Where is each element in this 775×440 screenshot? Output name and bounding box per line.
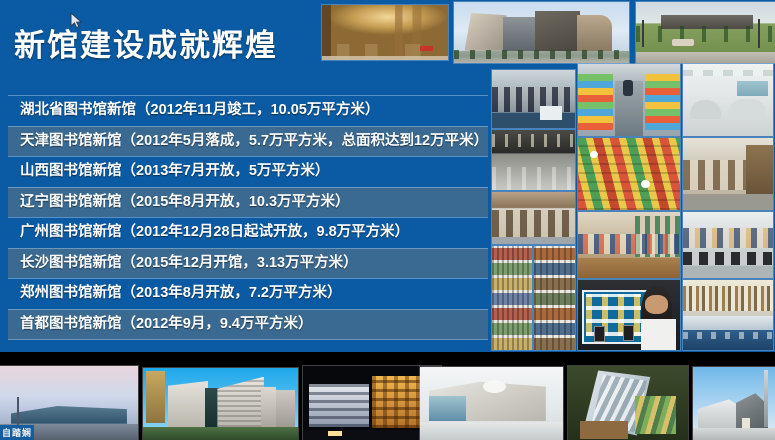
photo-wood-ceiling-stacks <box>492 192 575 244</box>
list-item: 首都图书馆新馆（2012年9月，9.4万平方米） <box>8 309 488 341</box>
photo-angular-modern-hall <box>693 367 775 440</box>
list-item: 山西图书馆新馆（2013年7月开放，5万平方米） <box>8 156 488 187</box>
photo-tall-bookwall-atrium <box>683 280 773 350</box>
top-photo-strip <box>322 2 775 62</box>
list-item: 郑州图书馆新馆（2013年8月开放，7.2万平方米） <box>8 278 488 309</box>
bottom-photo-strip: 自踏娴 <box>0 352 775 440</box>
photo-colorful-reading-hall <box>578 138 680 210</box>
photo-collage-grid <box>490 62 775 352</box>
page-title: 新馆建设成就辉煌 <box>14 24 314 68</box>
photo-bookstacks-rows <box>534 246 575 350</box>
achievement-list: 湖北省图书馆新馆（2012年11月竣工，10.05万平方米） 天津图书馆新馆（2… <box>8 95 488 331</box>
photo-concrete-museum-daylight <box>420 367 563 440</box>
photo-aerial-curved-roof <box>568 366 688 440</box>
photo-library-plaza-lawn <box>636 2 775 63</box>
list-item: 天津图书馆新馆（2012年5月落成，5.7万平方米，总面积达到12万平米） <box>8 126 488 157</box>
list-item: 长沙图书馆新馆（2015年12月开馆，3.13万平方米） <box>8 248 488 279</box>
list-item: 广州图书馆新馆（2012年12月28日起试开放，9.8万平方米） <box>8 217 488 248</box>
photo-magazine-shelf-aisle <box>578 64 680 136</box>
photo-computer-terminals-room <box>683 212 773 278</box>
photo-open-study-lounge <box>683 64 773 136</box>
list-item: 辽宁图书馆新馆（2015年8月开放，10.3万平方米） <box>8 187 488 218</box>
photo-white-stone-tower-block <box>143 368 298 440</box>
photo-modern-library-exterior <box>454 2 629 63</box>
photo-children-reading-tables <box>578 212 680 278</box>
photo-touchscreen-ebook-kiosk <box>578 280 680 350</box>
mouse-pointer-icon <box>70 12 84 30</box>
presentation-slide: 新馆建设成就辉煌 湖北省图书馆新馆（2012年11月竣工，10.05万平方米） … <box>0 0 775 440</box>
photo-library-interior-wood <box>683 138 773 210</box>
photo-dark-marble-hall <box>492 130 575 190</box>
photo-bookshelf-closeup-grid <box>492 246 532 350</box>
list-item: 湖北省图书馆新馆（2012年11月竣工，10.05万平方米） <box>8 95 488 126</box>
watermark-text: 自踏娴 <box>0 425 34 440</box>
photo-library-golden-interior <box>322 5 448 60</box>
photo-reading-room-crowded <box>492 70 575 128</box>
